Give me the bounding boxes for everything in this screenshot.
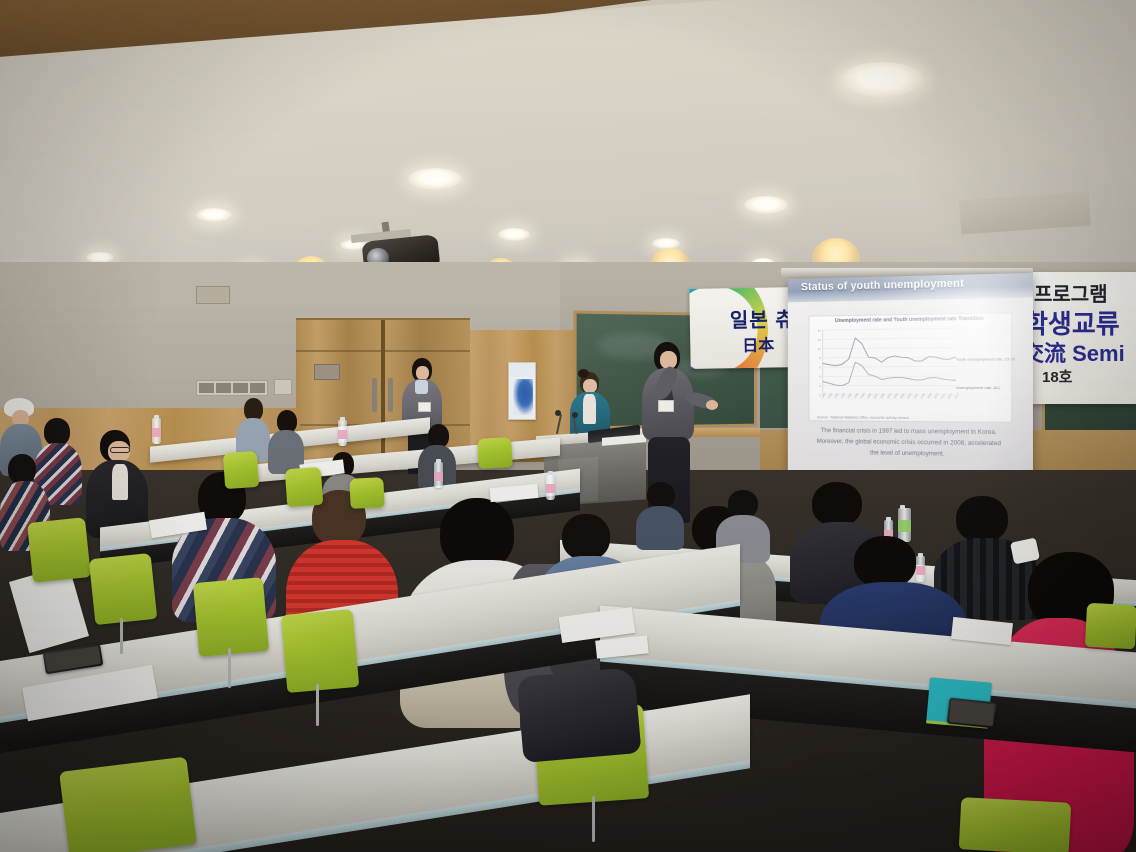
poster-graphic bbox=[513, 379, 533, 415]
photo-scene: 일본 츄오 日本 프로그램 학생교류 交流 Semi 18호 Status of… bbox=[0, 0, 1136, 852]
svg-text:2004: 2004 bbox=[892, 392, 899, 400]
thermostat-panel[interactable] bbox=[274, 379, 292, 395]
water-bottle[interactable] bbox=[434, 462, 443, 488]
chair[interactable] bbox=[1085, 603, 1136, 650]
banner-right-line1: 프로그램 bbox=[1034, 278, 1108, 307]
attendee-torso bbox=[636, 506, 684, 550]
chair-leg bbox=[316, 684, 319, 726]
microphone-head bbox=[555, 410, 561, 416]
svg-text:2013: 2013 bbox=[953, 392, 960, 400]
ceiling-downlight bbox=[840, 62, 924, 98]
slide-body-text: The financial crisis in 1997 led to mass… bbox=[797, 425, 1022, 461]
bottle-cap bbox=[340, 417, 345, 421]
staff-badge bbox=[418, 402, 431, 412]
bottle-label-green bbox=[898, 520, 911, 532]
chart-source-note: Source : National Statistics Office, eco… bbox=[817, 415, 909, 420]
ceiling-downlight bbox=[744, 196, 788, 214]
chair[interactable] bbox=[281, 609, 360, 693]
banner-right: 프로그램 학생교류 交流 Semi 18호 bbox=[1018, 272, 1136, 404]
water-bottle[interactable] bbox=[546, 474, 555, 500]
chair[interactable] bbox=[89, 553, 158, 625]
moderator-shirt bbox=[583, 394, 596, 424]
bottle-cap bbox=[900, 505, 905, 509]
svg-text:1997: 1997 bbox=[846, 392, 853, 400]
door-handle[interactable] bbox=[372, 378, 377, 412]
light-switch-panel[interactable] bbox=[196, 380, 268, 396]
chair[interactable] bbox=[477, 437, 513, 469]
water-bottle[interactable] bbox=[152, 418, 161, 444]
chart-svg: 1412108642019931994199519961997199819992… bbox=[809, 313, 1013, 424]
svg-text:2010: 2010 bbox=[933, 392, 940, 400]
svg-text:1996: 1996 bbox=[840, 392, 847, 400]
bottle-cap bbox=[154, 415, 159, 419]
svg-text:2011: 2011 bbox=[940, 392, 947, 400]
svg-text:1998: 1998 bbox=[853, 392, 860, 400]
svg-text:2007: 2007 bbox=[913, 392, 920, 400]
door-panel-line bbox=[296, 350, 470, 352]
chair-leg bbox=[228, 648, 231, 688]
bottle-label bbox=[434, 472, 443, 481]
svg-text:2005: 2005 bbox=[899, 392, 906, 400]
svg-text:12: 12 bbox=[818, 338, 822, 342]
wall-speaker bbox=[196, 286, 230, 304]
svg-text:2: 2 bbox=[819, 384, 821, 388]
attendee-back-2 bbox=[268, 410, 304, 472]
chair[interactable] bbox=[27, 517, 91, 583]
chair-leg bbox=[592, 796, 595, 842]
svg-text:14: 14 bbox=[818, 328, 822, 332]
attendee-far-right-2 bbox=[636, 482, 686, 548]
chair[interactable] bbox=[285, 467, 324, 507]
poster-header bbox=[509, 363, 535, 377]
attendee-head bbox=[8, 454, 36, 484]
banner-right-line4: 18호 bbox=[1042, 366, 1073, 387]
backpack bbox=[516, 667, 641, 763]
chair[interactable] bbox=[349, 477, 385, 509]
svg-text:2000: 2000 bbox=[866, 392, 873, 400]
chair-leg bbox=[120, 618, 123, 654]
chair[interactable] bbox=[193, 577, 269, 657]
attendee-head bbox=[854, 536, 916, 588]
svg-text:2009: 2009 bbox=[926, 392, 933, 400]
moderator-face bbox=[583, 379, 597, 393]
svg-text:2012: 2012 bbox=[946, 392, 953, 400]
svg-text:2001: 2001 bbox=[873, 392, 880, 400]
svg-text:1999: 1999 bbox=[859, 392, 866, 400]
ceiling-downlight bbox=[408, 168, 462, 190]
svg-text:1993: 1993 bbox=[820, 392, 827, 400]
chart-legend-total: Unemployment rate, ALL bbox=[956, 385, 1015, 390]
chair[interactable] bbox=[223, 451, 259, 489]
staff-shirt-collar bbox=[415, 380, 428, 394]
projection-screen: Status of youth unemployment Unemploymen… bbox=[788, 273, 1033, 501]
presenter-hand bbox=[706, 400, 718, 410]
ceiling bbox=[0, 0, 1136, 300]
svg-text:4: 4 bbox=[819, 375, 821, 379]
smartphone-tablet[interactable] bbox=[947, 698, 997, 729]
bottle-cap bbox=[548, 471, 553, 475]
svg-text:2008: 2008 bbox=[919, 392, 926, 400]
svg-text:1994: 1994 bbox=[827, 392, 834, 400]
bottle-label bbox=[338, 430, 347, 439]
chair[interactable] bbox=[59, 757, 197, 852]
attendee-head bbox=[647, 482, 675, 508]
svg-text:10: 10 bbox=[818, 347, 822, 351]
door-handle[interactable] bbox=[388, 378, 393, 412]
svg-text:2003: 2003 bbox=[886, 392, 893, 400]
ceiling-downlight bbox=[498, 228, 530, 241]
bottle-label bbox=[546, 484, 555, 493]
svg-text:1995: 1995 bbox=[833, 392, 840, 400]
door-vent bbox=[314, 364, 340, 380]
attendee-head bbox=[562, 514, 610, 560]
door-center-gap bbox=[381, 320, 385, 462]
chair[interactable] bbox=[959, 797, 1072, 852]
attendee-head bbox=[44, 418, 70, 446]
attendee-blouse bbox=[112, 464, 128, 500]
chart-legend-youth: Youth unemployment rate, 15-29 bbox=[956, 356, 1015, 361]
presenter-badge bbox=[658, 400, 674, 412]
banner-right-line3: 交流 Semi bbox=[1022, 336, 1125, 368]
bottle-cap bbox=[436, 459, 441, 463]
attendee-head bbox=[728, 490, 758, 518]
moderator-hair-bun bbox=[578, 369, 589, 378]
water-bottle[interactable] bbox=[338, 420, 347, 446]
staff-face bbox=[416, 366, 429, 380]
smartphone-screen bbox=[949, 700, 995, 726]
bottle-label bbox=[152, 428, 161, 437]
slide-chart: Unemployment rate and Youth unemployment… bbox=[809, 312, 1013, 423]
svg-text:6: 6 bbox=[819, 365, 821, 369]
svg-text:2002: 2002 bbox=[879, 392, 886, 400]
svg-text:8: 8 bbox=[819, 356, 821, 360]
svg-text:2006: 2006 bbox=[906, 392, 913, 400]
microphone-head bbox=[572, 412, 578, 418]
banner-left-japanese-text: 日本 bbox=[742, 332, 774, 357]
attendee-head bbox=[812, 482, 862, 526]
wall-poster bbox=[508, 362, 536, 420]
ceiling-downlight bbox=[196, 208, 232, 222]
glasses-icon bbox=[110, 447, 130, 453]
